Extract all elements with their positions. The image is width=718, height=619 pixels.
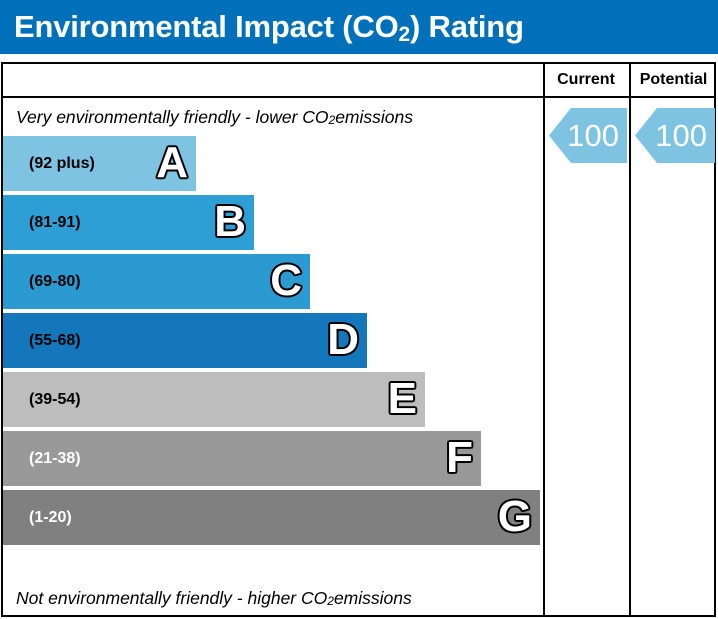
potential-rating-arrow: 100 <box>635 108 715 163</box>
rating-band-c: (69-80)C <box>3 254 310 309</box>
potential-rating-cell: 100 <box>631 98 716 617</box>
caption-bottom-post: emissions <box>334 588 412 609</box>
rating-band-d: (55-68)D <box>3 313 367 368</box>
page-title-tail: ) Rating <box>410 9 524 44</box>
band-letter-f: F <box>446 436 473 480</box>
band-range-label-f: (21-38) <box>29 450 81 468</box>
caption-bottom-subscript: 2 <box>327 594 334 608</box>
page-title: Environmental Impact (CO2) Rating <box>0 9 524 45</box>
band-letter-g: G <box>498 495 532 539</box>
caption-bottom: Not environmentally friendly - higher CO… <box>3 579 543 617</box>
band-letter-c: C <box>270 259 302 303</box>
rating-band-a: (92 plus)A <box>3 136 196 191</box>
current-rating-cell: 100 <box>545 98 629 617</box>
band-range-label-g: (1-20) <box>29 509 72 527</box>
column-header-potential: Potential <box>631 64 716 96</box>
band-range-label-a: (92 plus) <box>29 155 95 173</box>
page-title-main: Environmental Impact (CO <box>14 9 399 44</box>
caption-top-subscript: 2 <box>329 113 336 127</box>
page-title-subscript: 2 <box>399 23 410 46</box>
column-header-current: Current <box>543 64 629 96</box>
rating-band-f: (21-38)F <box>3 431 481 486</box>
potential-rating-value: 100 <box>655 118 707 154</box>
caption-bottom-pre: Not environmentally friendly - higher CO <box>16 588 327 609</box>
current-rating-value: 100 <box>567 118 619 154</box>
band-letter-e: E <box>388 377 417 421</box>
band-range-label-e: (39-54) <box>29 391 81 409</box>
bands-container: (92 plus)A(81-91)B(69-80)C(55-68)D(39-54… <box>3 136 543 579</box>
band-letter-a: A <box>156 141 188 185</box>
band-range-label-b: (81-91) <box>29 214 81 232</box>
caption-top: Very environmentally friendly - lower CO… <box>3 98 543 136</box>
current-rating-arrow: 100 <box>549 108 627 163</box>
chart-title-bar: Environmental Impact (CO2) Rating <box>0 0 718 54</box>
band-letter-d: D <box>327 318 359 362</box>
rating-band-e: (39-54)E <box>3 372 425 427</box>
caption-top-post: emissions <box>335 107 413 128</box>
caption-top-pre: Very environmentally friendly - lower CO <box>16 107 329 128</box>
rating-bands-area: Very environmentally friendly - lower CO… <box>3 98 543 617</box>
band-letter-b: B <box>214 200 246 244</box>
band-range-label-d: (55-68) <box>29 332 81 350</box>
band-range-label-c: (69-80) <box>29 273 81 291</box>
rating-band-g: (1-20)G <box>3 490 540 545</box>
rating-band-b: (81-91)B <box>3 195 254 250</box>
chart-frame: Current Potential Very environmentally f… <box>1 62 716 617</box>
epc-environmental-impact-chart: Environmental Impact (CO2) Rating Curren… <box>0 0 718 619</box>
